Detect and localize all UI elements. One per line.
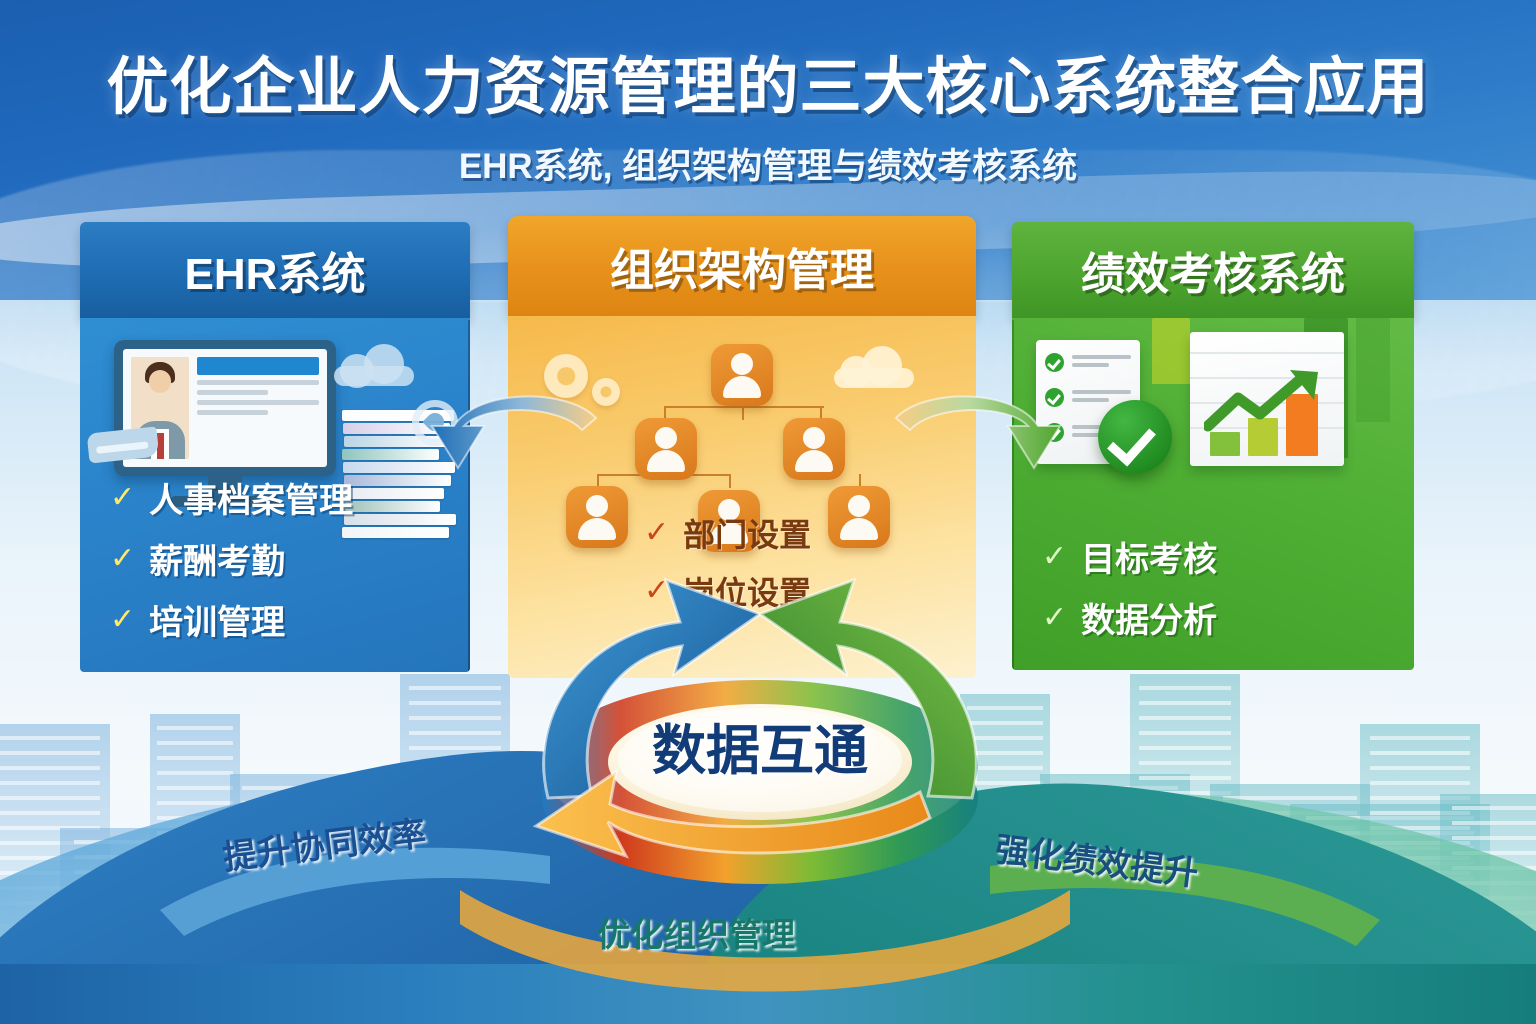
- check-circle-icon: [1098, 400, 1172, 474]
- person-node-icon: [783, 418, 845, 480]
- profile-field-row: [197, 390, 268, 395]
- checklist-row: [1045, 353, 1131, 372]
- profile-field-header: [197, 357, 319, 375]
- arrow-center-to-left: [418, 382, 608, 502]
- list-item: ✓人事档案管理: [110, 473, 353, 522]
- background-bar: [1152, 318, 1190, 384]
- card-ehr-system[interactable]: EHR系统: [80, 222, 470, 672]
- check-icon: ✓: [110, 605, 135, 635]
- list-item: ✓薪酬考勤: [110, 534, 353, 583]
- cycle-center-label: 数据互通: [430, 706, 1090, 785]
- benefit-label-bottom: 优化组织管理: [597, 908, 795, 956]
- list-item-label: 部门设置: [683, 510, 811, 556]
- document-sheet: [342, 527, 449, 538]
- org-chart-edge: [729, 474, 731, 488]
- check-icon: ✓: [644, 518, 669, 548]
- list-item-label: 数据分析: [1081, 593, 1217, 642]
- card-title-org: 组织架构管理: [610, 234, 874, 298]
- check-icon: ✓: [110, 483, 135, 513]
- person-node-icon: [711, 344, 773, 406]
- card-title-performance: 绩效考核系统: [1081, 238, 1345, 302]
- feature-list-ehr: ✓人事档案管理✓薪酬考勤✓培训管理: [110, 473, 353, 656]
- org-chart-edge: [742, 406, 744, 420]
- avatar-face: [149, 370, 171, 393]
- list-item-label: 培训管理: [149, 595, 285, 644]
- list-item-label: 薪酬考勤: [149, 534, 285, 583]
- list-item-label: 人事档案管理: [149, 473, 353, 522]
- profile-field-row: [197, 400, 319, 405]
- background-bar: [1356, 318, 1390, 422]
- check-icon: [1045, 353, 1064, 372]
- data-exchange-cycle[interactable]: 数据互通: [430, 560, 1090, 930]
- trend-arrow-icon: [1204, 368, 1326, 438]
- card-header-ehr: EHR系统: [80, 222, 470, 318]
- document-sheet: [344, 514, 456, 525]
- profile-field-row: [197, 380, 319, 385]
- check-icon: ✓: [110, 544, 135, 574]
- list-item: ✓部门设置: [644, 510, 811, 556]
- document-sheet: [343, 501, 440, 512]
- infographic-canvas: 优化企业人力资源管理的三大核心系统整合应用 EHR系统, 组织架构管理与绩效考核…: [0, 0, 1536, 1024]
- page-subtitle: EHR系统, 组织架构管理与绩效考核系统: [0, 138, 1536, 189]
- card-body-ehr: ✓人事档案管理✓薪酬考勤✓培训管理: [80, 318, 470, 672]
- list-item-label: 目标考核: [1081, 532, 1217, 581]
- card-title-ehr: EHR系统: [185, 238, 366, 302]
- checklist-line: [1072, 355, 1131, 371]
- cloud-icon: [330, 342, 418, 386]
- org-chart-edge: [664, 406, 824, 408]
- person-node-icon: [828, 486, 890, 548]
- profile-field-row: [197, 410, 268, 415]
- person-node-icon: [635, 418, 697, 480]
- bar-chart-icon: [1190, 332, 1344, 466]
- list-item: ✓培训管理: [110, 595, 353, 644]
- card-header-performance: 绩效考核系统: [1012, 222, 1414, 318]
- profile-fields: [197, 357, 319, 459]
- card-header-org: 组织架构管理: [508, 216, 976, 316]
- arrow-center-to-right: [884, 382, 1074, 502]
- page-title: 优化企业人力资源管理的三大核心系统整合应用: [0, 36, 1536, 126]
- avatar-tie: [157, 433, 164, 459]
